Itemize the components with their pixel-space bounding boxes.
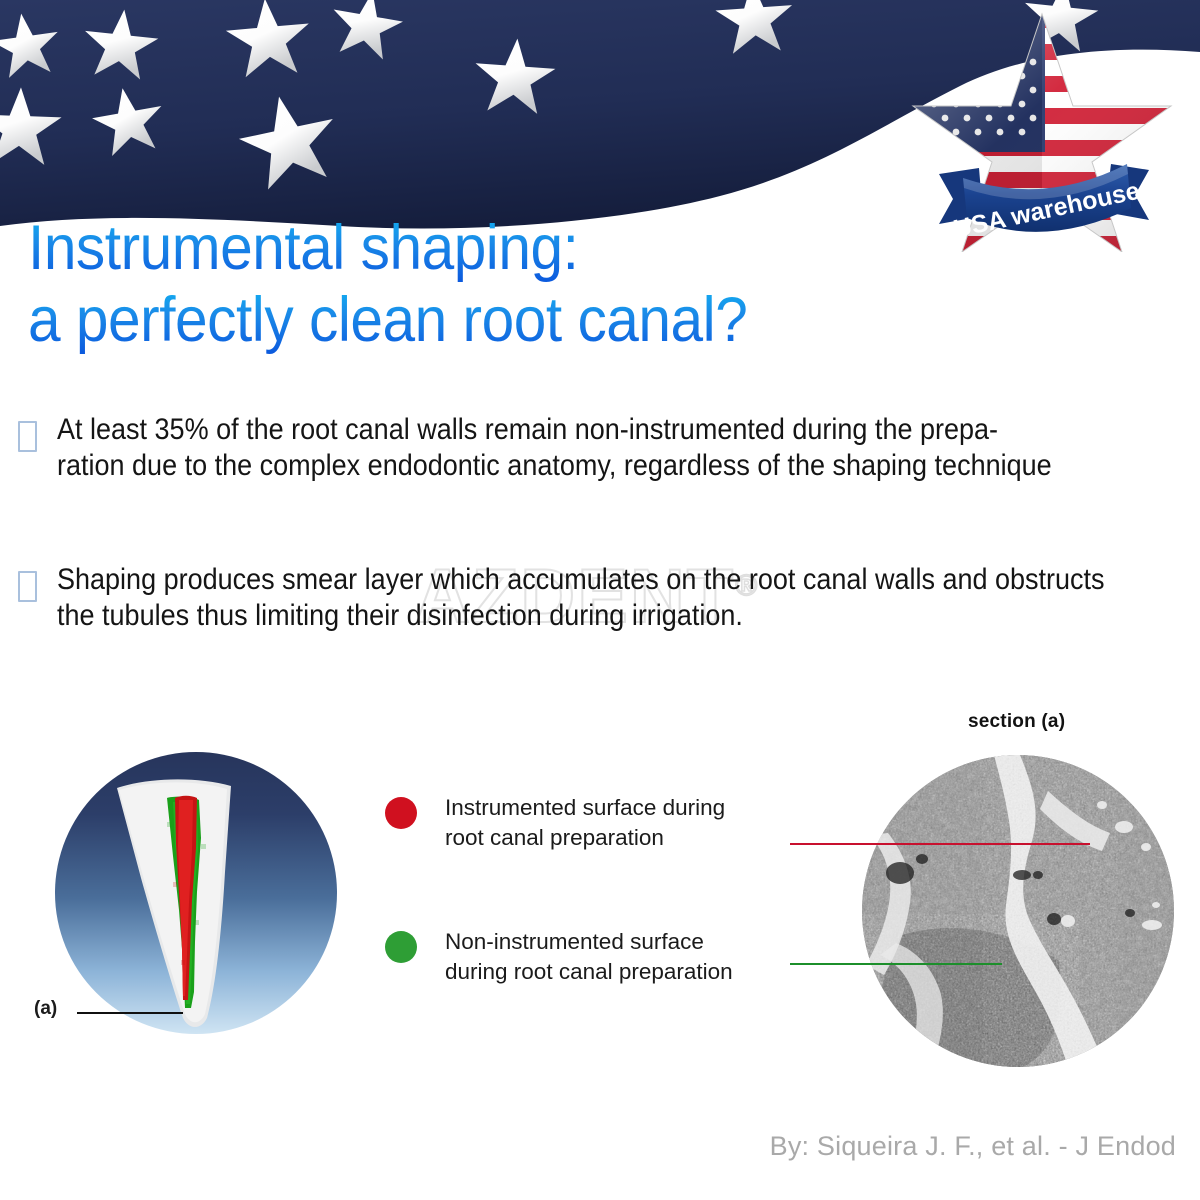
bullet-marker-box-icon [18, 571, 37, 602]
bullet-marker-box-icon [18, 421, 37, 452]
bullet-item-2-text: Shaping produces smear layer which accum… [57, 562, 1105, 634]
bullet-item-2: Shaping produces smear layer which accum… [18, 562, 1188, 634]
legend-1-line-1: Instrumented surface during [445, 793, 725, 823]
tooth-root-cbct-scan-icon [55, 752, 337, 1034]
sem-figure-title: section (a) [968, 711, 1065, 733]
cbct-section-label: (a) [34, 998, 57, 1020]
bullet-item-1: At least 35% of the root canal walls rem… [18, 412, 1188, 484]
slide-canvas: USA warehouse Instrumental shaping: a pe… [0, 0, 1200, 1200]
legend-2-line-1: Non-instrumented surface [445, 927, 733, 957]
legend-1-line-2: root canal preparation [445, 823, 725, 853]
bullet-item-1-text: At least 35% of the root canal walls rem… [57, 412, 1075, 484]
legend-item-instrumented-text: Instrumented surface during root canal p… [445, 793, 725, 853]
legend-item-non-instrumented: Non-instrumented surface during root can… [385, 927, 765, 987]
figure-legend: Instrumented surface during root canal p… [385, 793, 765, 987]
legend-item-non-instrumented-text: Non-instrumented surface during root can… [445, 927, 733, 987]
green-dot-icon [385, 931, 417, 963]
legend-pointer-line-green [790, 963, 1002, 965]
legend-pointer-line-red [790, 843, 1090, 845]
cbct-circle-image [55, 752, 337, 1034]
sem-micrograph-dentin-icon [862, 755, 1174, 1067]
bullet-2-line-2: the tubules thus limiting their disinfec… [57, 598, 1105, 634]
source-credit: By: Siqueira J. F., et al. - J Endod [770, 1131, 1176, 1162]
sem-circle-image [862, 755, 1174, 1067]
title-line-1: Instrumental shaping: [28, 212, 921, 284]
bullet-list: At least 35% of the root canal walls rem… [18, 412, 1188, 634]
cbct-figure [55, 752, 337, 1034]
sem-figure [862, 755, 1174, 1067]
bullet-2-line-1: Shaping produces smear layer which accum… [57, 562, 1105, 598]
page-title: Instrumental shaping: a perfectly clean … [28, 212, 988, 356]
title-line-2: a perfectly clean root canal? [28, 284, 921, 356]
red-dot-icon [385, 797, 417, 829]
legend-item-instrumented: Instrumented surface during root canal p… [385, 793, 765, 853]
legend-2-line-2: during root canal preparation [445, 957, 733, 987]
bullet-1-line-2: ration due to the complex endodontic ana… [57, 448, 1075, 484]
bullet-1-line-1: At least 35% of the root canal walls rem… [57, 412, 1075, 448]
cbct-section-leader-line [77, 1012, 183, 1014]
